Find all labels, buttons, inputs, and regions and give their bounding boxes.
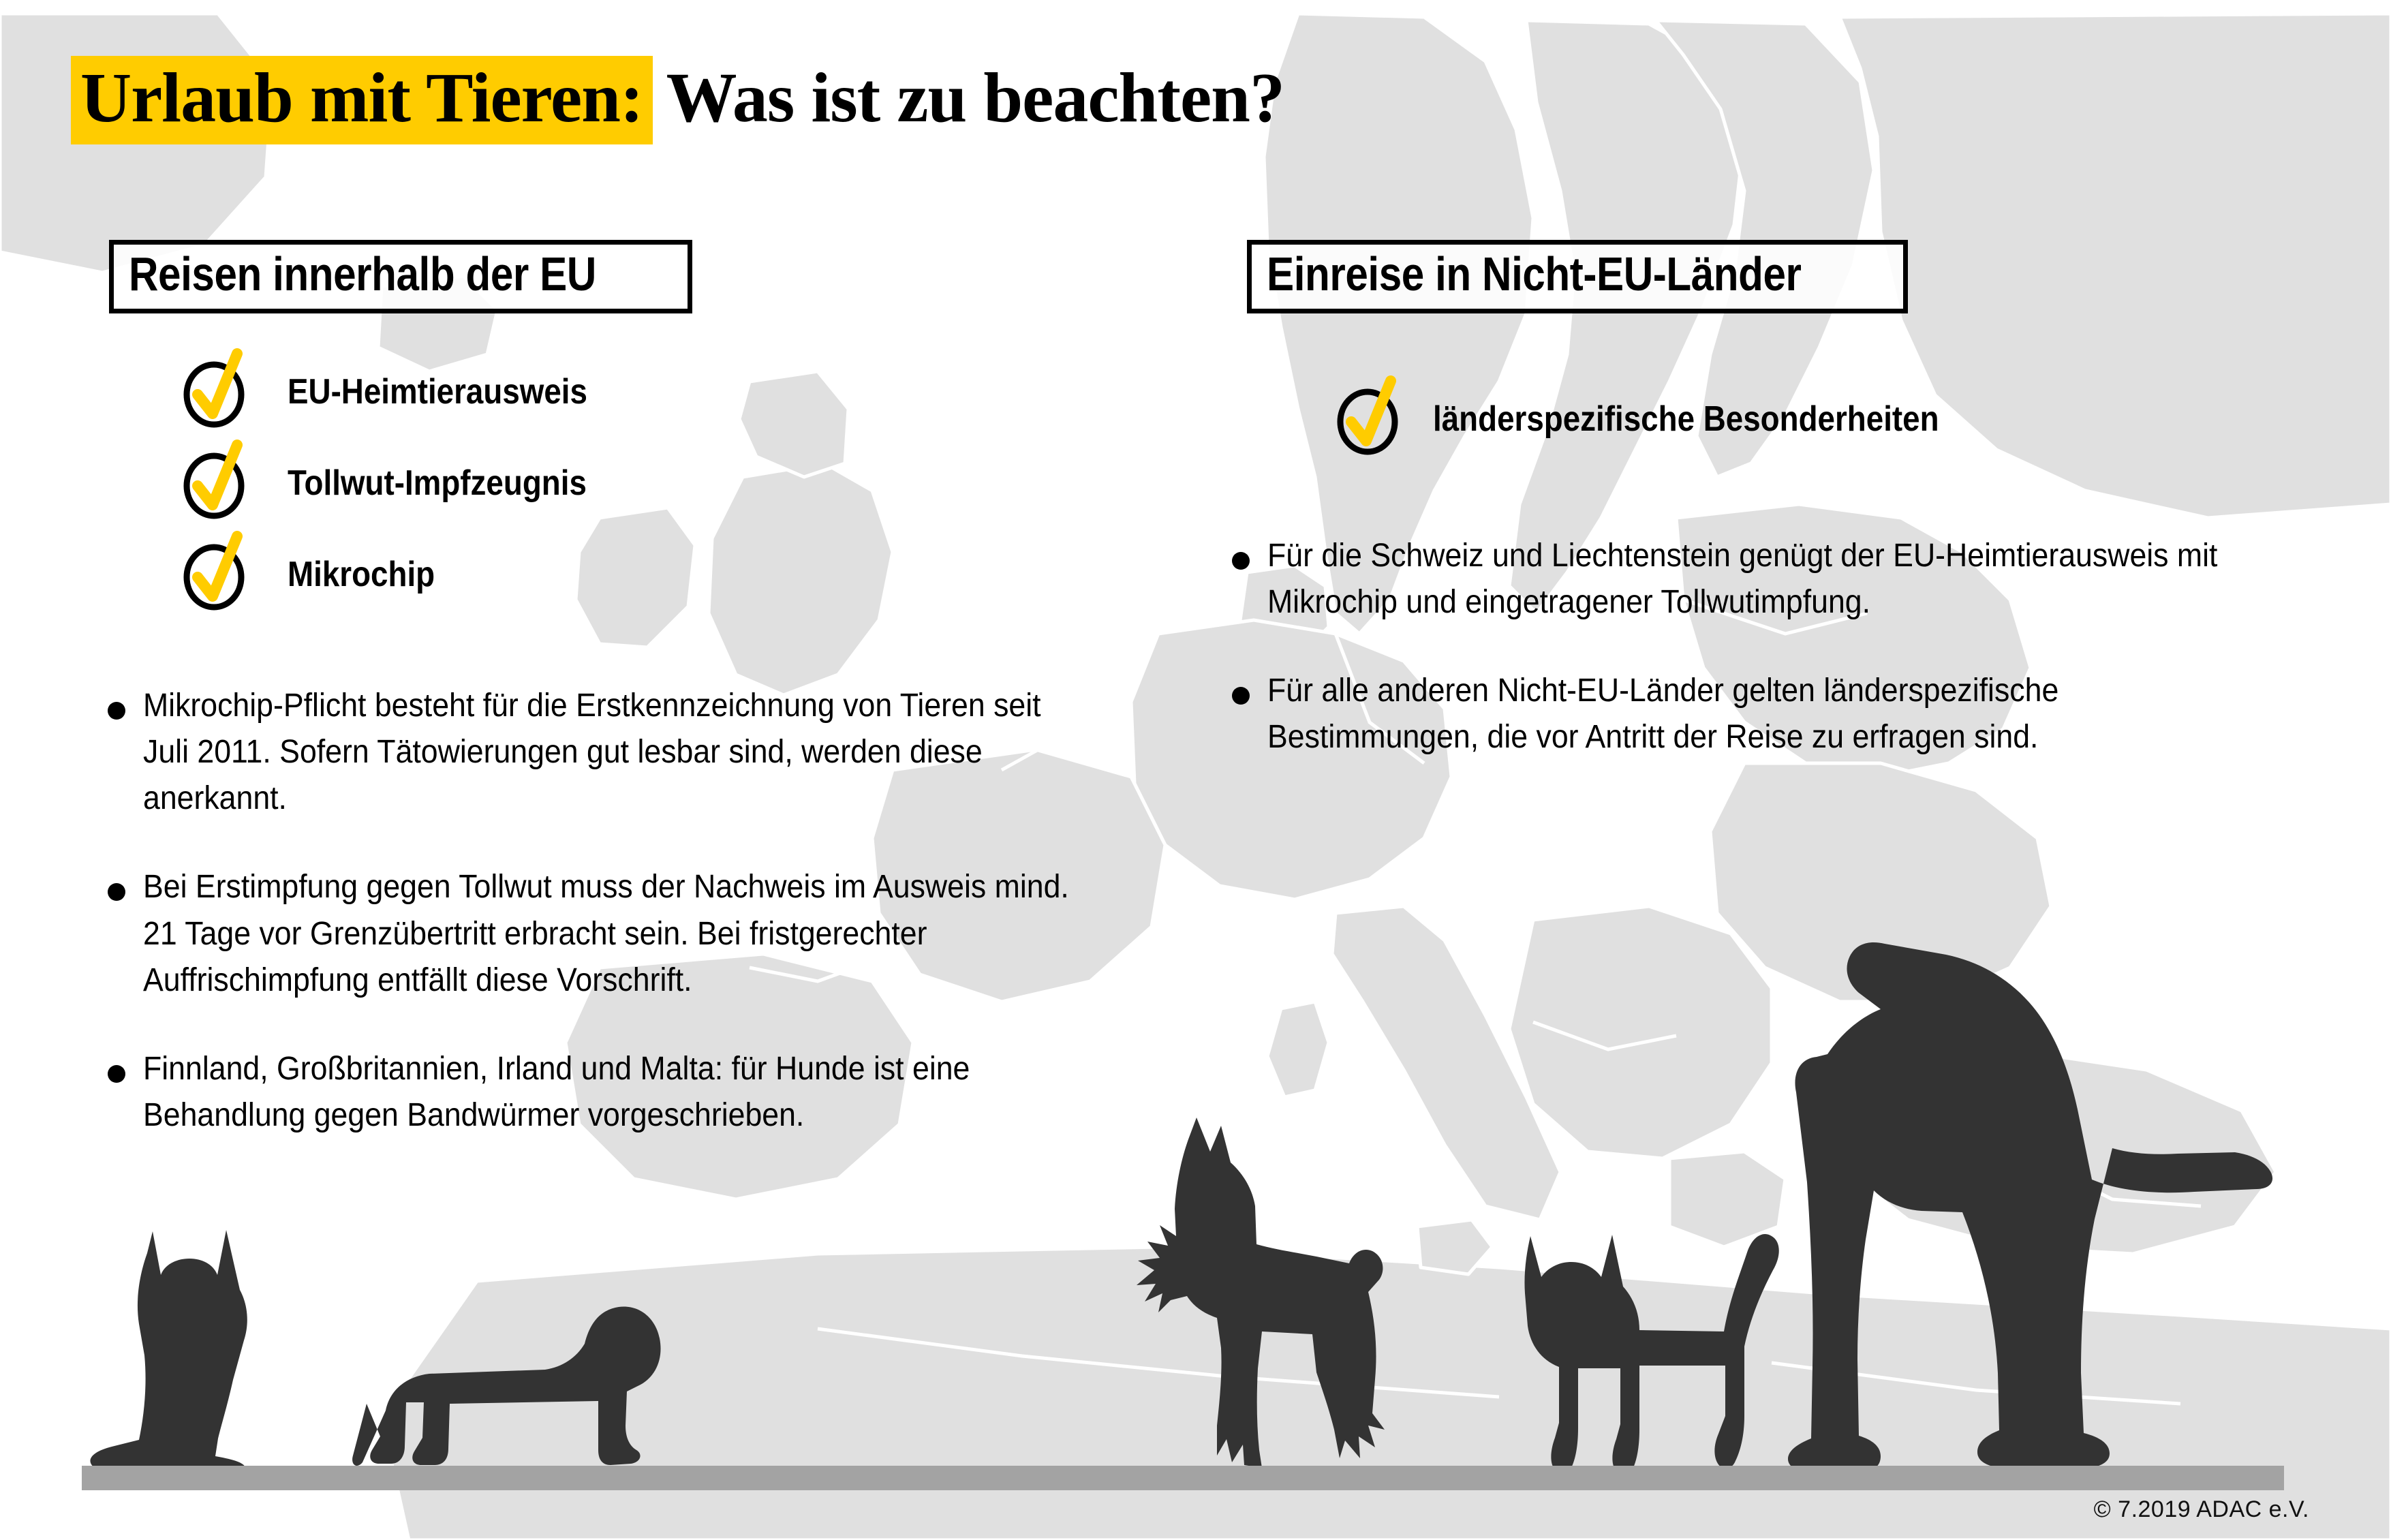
bullet-item: Mikrochip-Pflicht besteht für die Erstke… (108, 683, 1143, 822)
bullet-item-text: Für die Schweiz und Liechtenstein genügt… (1267, 533, 2223, 626)
bullet-dot-icon (1232, 552, 1250, 570)
check-item-label: Tollwut-Impfzeugnis (288, 463, 587, 504)
check-item: länderspezifische Besonderheiten (1332, 373, 2008, 465)
bullet-item-text: Bei Erstimpfung gegen Tollwut muss der N… (143, 864, 1073, 1003)
check-circle-icon (179, 539, 249, 610)
bullet-item-text: Finnland, Großbritannien, Irland und Mal… (143, 1046, 1073, 1139)
bullet-dot-icon (1232, 687, 1250, 705)
section-heading-non-eu-label: Einreise in Nicht-EU-Länder (1267, 250, 1802, 298)
check-circle-icon (179, 448, 249, 519)
copyright-notice: © 7.2019 ADAC e.V. (2094, 1496, 2309, 1523)
check-item: Tollwut-Impfzeugnis (179, 437, 628, 529)
check-item: Mikrochip (179, 529, 628, 620)
bullet-item: Finnland, Großbritannien, Irland und Mal… (108, 1046, 1143, 1139)
page-title: Urlaub mit Tieren:Was ist zu beachten? (80, 56, 1284, 144)
check-item-label: Mikrochip (288, 554, 435, 595)
page-title-highlight: Urlaub mit Tieren: (71, 56, 653, 144)
bullet-item: Für alle anderen Nicht-EU-Länder gelten … (1232, 668, 2295, 760)
bullet-dot-icon (108, 883, 125, 901)
bullet-list-non-eu: Für die Schweiz und Liechtenstein genügt… (1232, 533, 2295, 803)
section-heading-eu: Reisen innerhalb der EU (109, 240, 692, 313)
check-circle-icon (1332, 384, 1403, 455)
check-item: EU-Heimtierausweis (179, 346, 628, 437)
checklist-eu: EU-Heimtierausweis Tollwut-Impfzeugnis M… (179, 346, 628, 620)
bullet-item: Für die Schweiz und Liechtenstein genügt… (1232, 533, 2295, 626)
check-item-label: länderspezifische Besonderheiten (1433, 399, 1939, 440)
bullet-item-text: Mikrochip-Pflicht besteht für die Erstke… (143, 683, 1073, 822)
section-heading-eu-label: Reisen innerhalb der EU (129, 250, 596, 298)
page-title-rest: Was ist zu beachten? (653, 63, 1284, 134)
bullet-item: Bei Erstimpfung gegen Tollwut muss der N… (108, 864, 1143, 1003)
section-heading-non-eu: Einreise in Nicht-EU-Länder (1247, 240, 1908, 313)
check-circle-icon (179, 356, 249, 427)
bullet-dot-icon (108, 702, 125, 720)
bullet-item-text: Für alle anderen Nicht-EU-Länder gelten … (1267, 668, 2223, 760)
bullet-list-eu: Mikrochip-Pflicht besteht für die Erstke… (108, 683, 1143, 1181)
bullet-dot-icon (108, 1065, 125, 1083)
check-item-label: EU-Heimtierausweis (288, 371, 587, 412)
checklist-non-eu: länderspezifische Besonderheiten (1332, 373, 2008, 465)
